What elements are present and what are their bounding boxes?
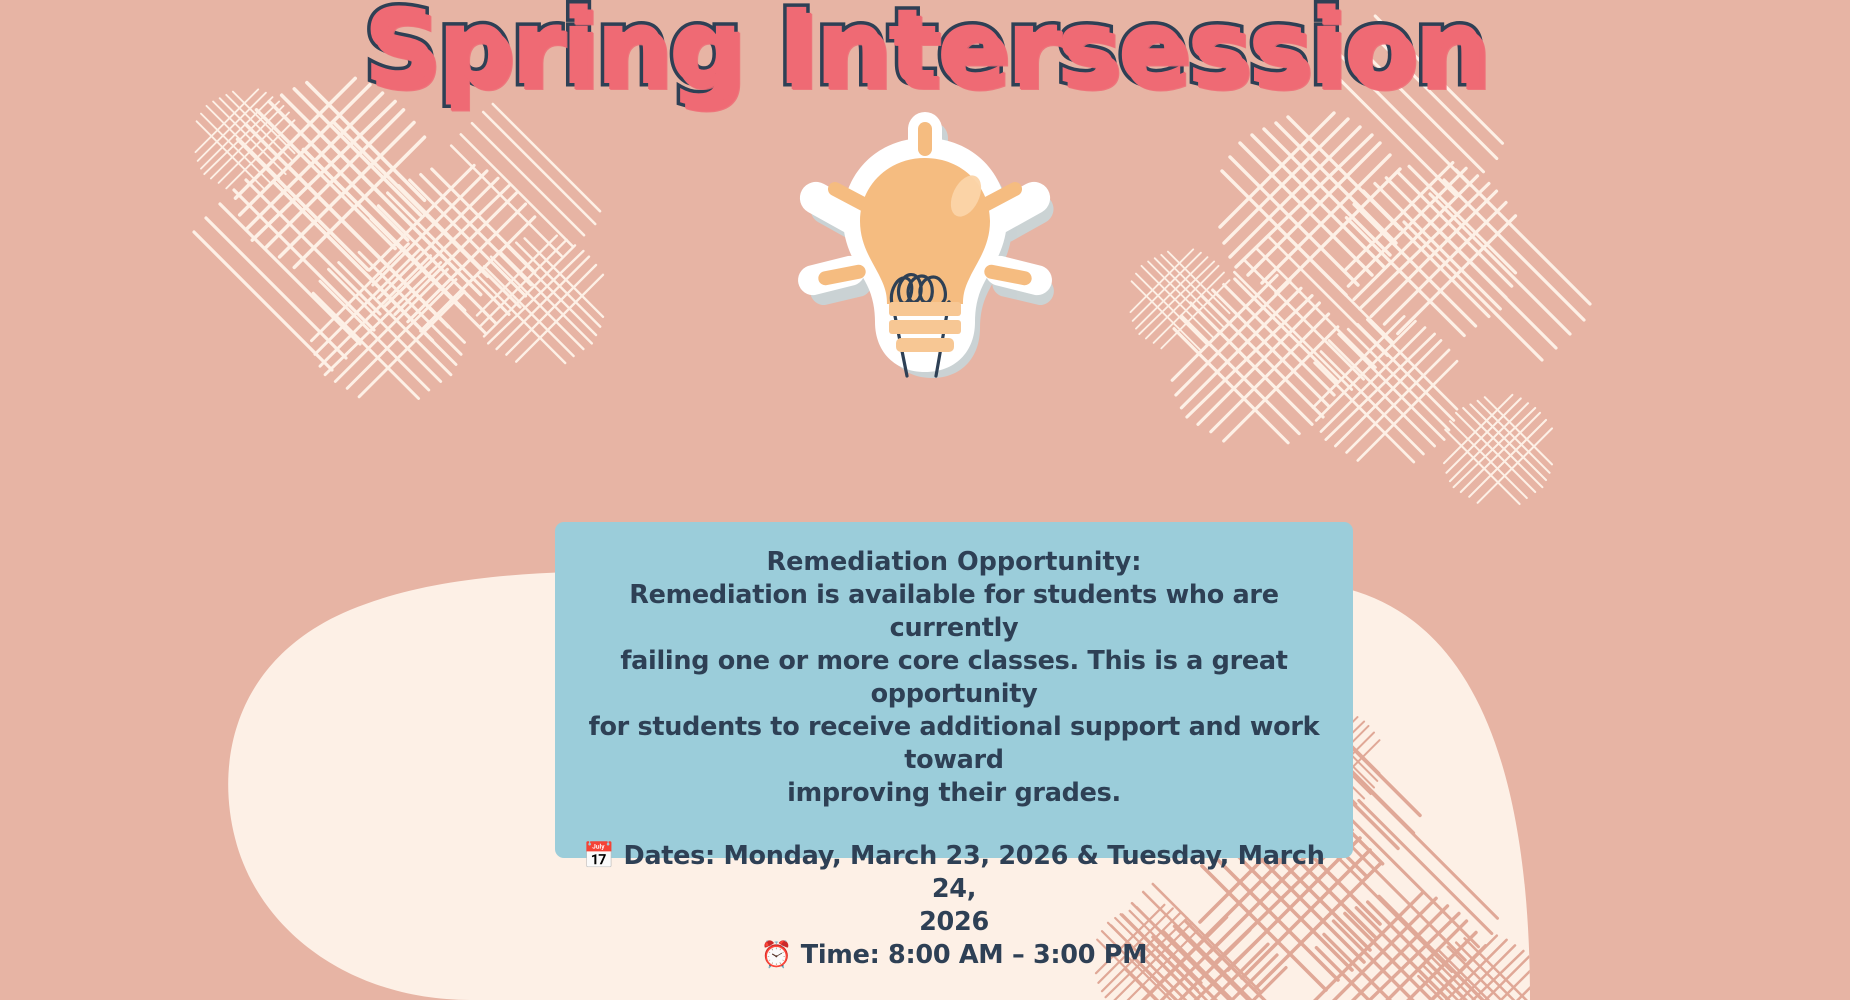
alarm-clock-icon: ⏰ [761,940,792,970]
dates-label: Dates: [623,841,714,871]
time-row: ⏰ Time: 8:00 AM – 3:00 PM [583,939,1325,972]
dates-value: Monday, March 23, 2026 & Tuesday, March … [723,841,1324,904]
info-card: Remediation Opportunity: Remediation is … [555,522,1353,858]
poster-title-container: Spring Intersession [0,0,1850,109]
lightbulb-icon [790,104,1060,384]
poster-canvas: Spring Intersession [0,0,1850,1000]
card-spacer [583,810,1325,840]
dates-row: 📅 Dates: Monday, March 23, 2026 & Tuesda… [583,840,1325,906]
card-body-line: improving their grades. [583,777,1325,810]
time-value: 8:00 AM – 3:00 PM [888,940,1147,970]
calendar-icon: 📅 [583,841,614,871]
card-body-line: for students to receive additional suppo… [583,711,1325,777]
card-body-line: failing one or more core classes. This i… [583,645,1325,711]
time-label: Time: [801,940,880,970]
card-heading: Remediation Opportunity: [583,546,1325,579]
card-body-line: Remediation is available for students wh… [583,579,1325,645]
page-title: Spring Intersession [363,0,1487,109]
dates-row-continued: 2026 [583,906,1325,939]
